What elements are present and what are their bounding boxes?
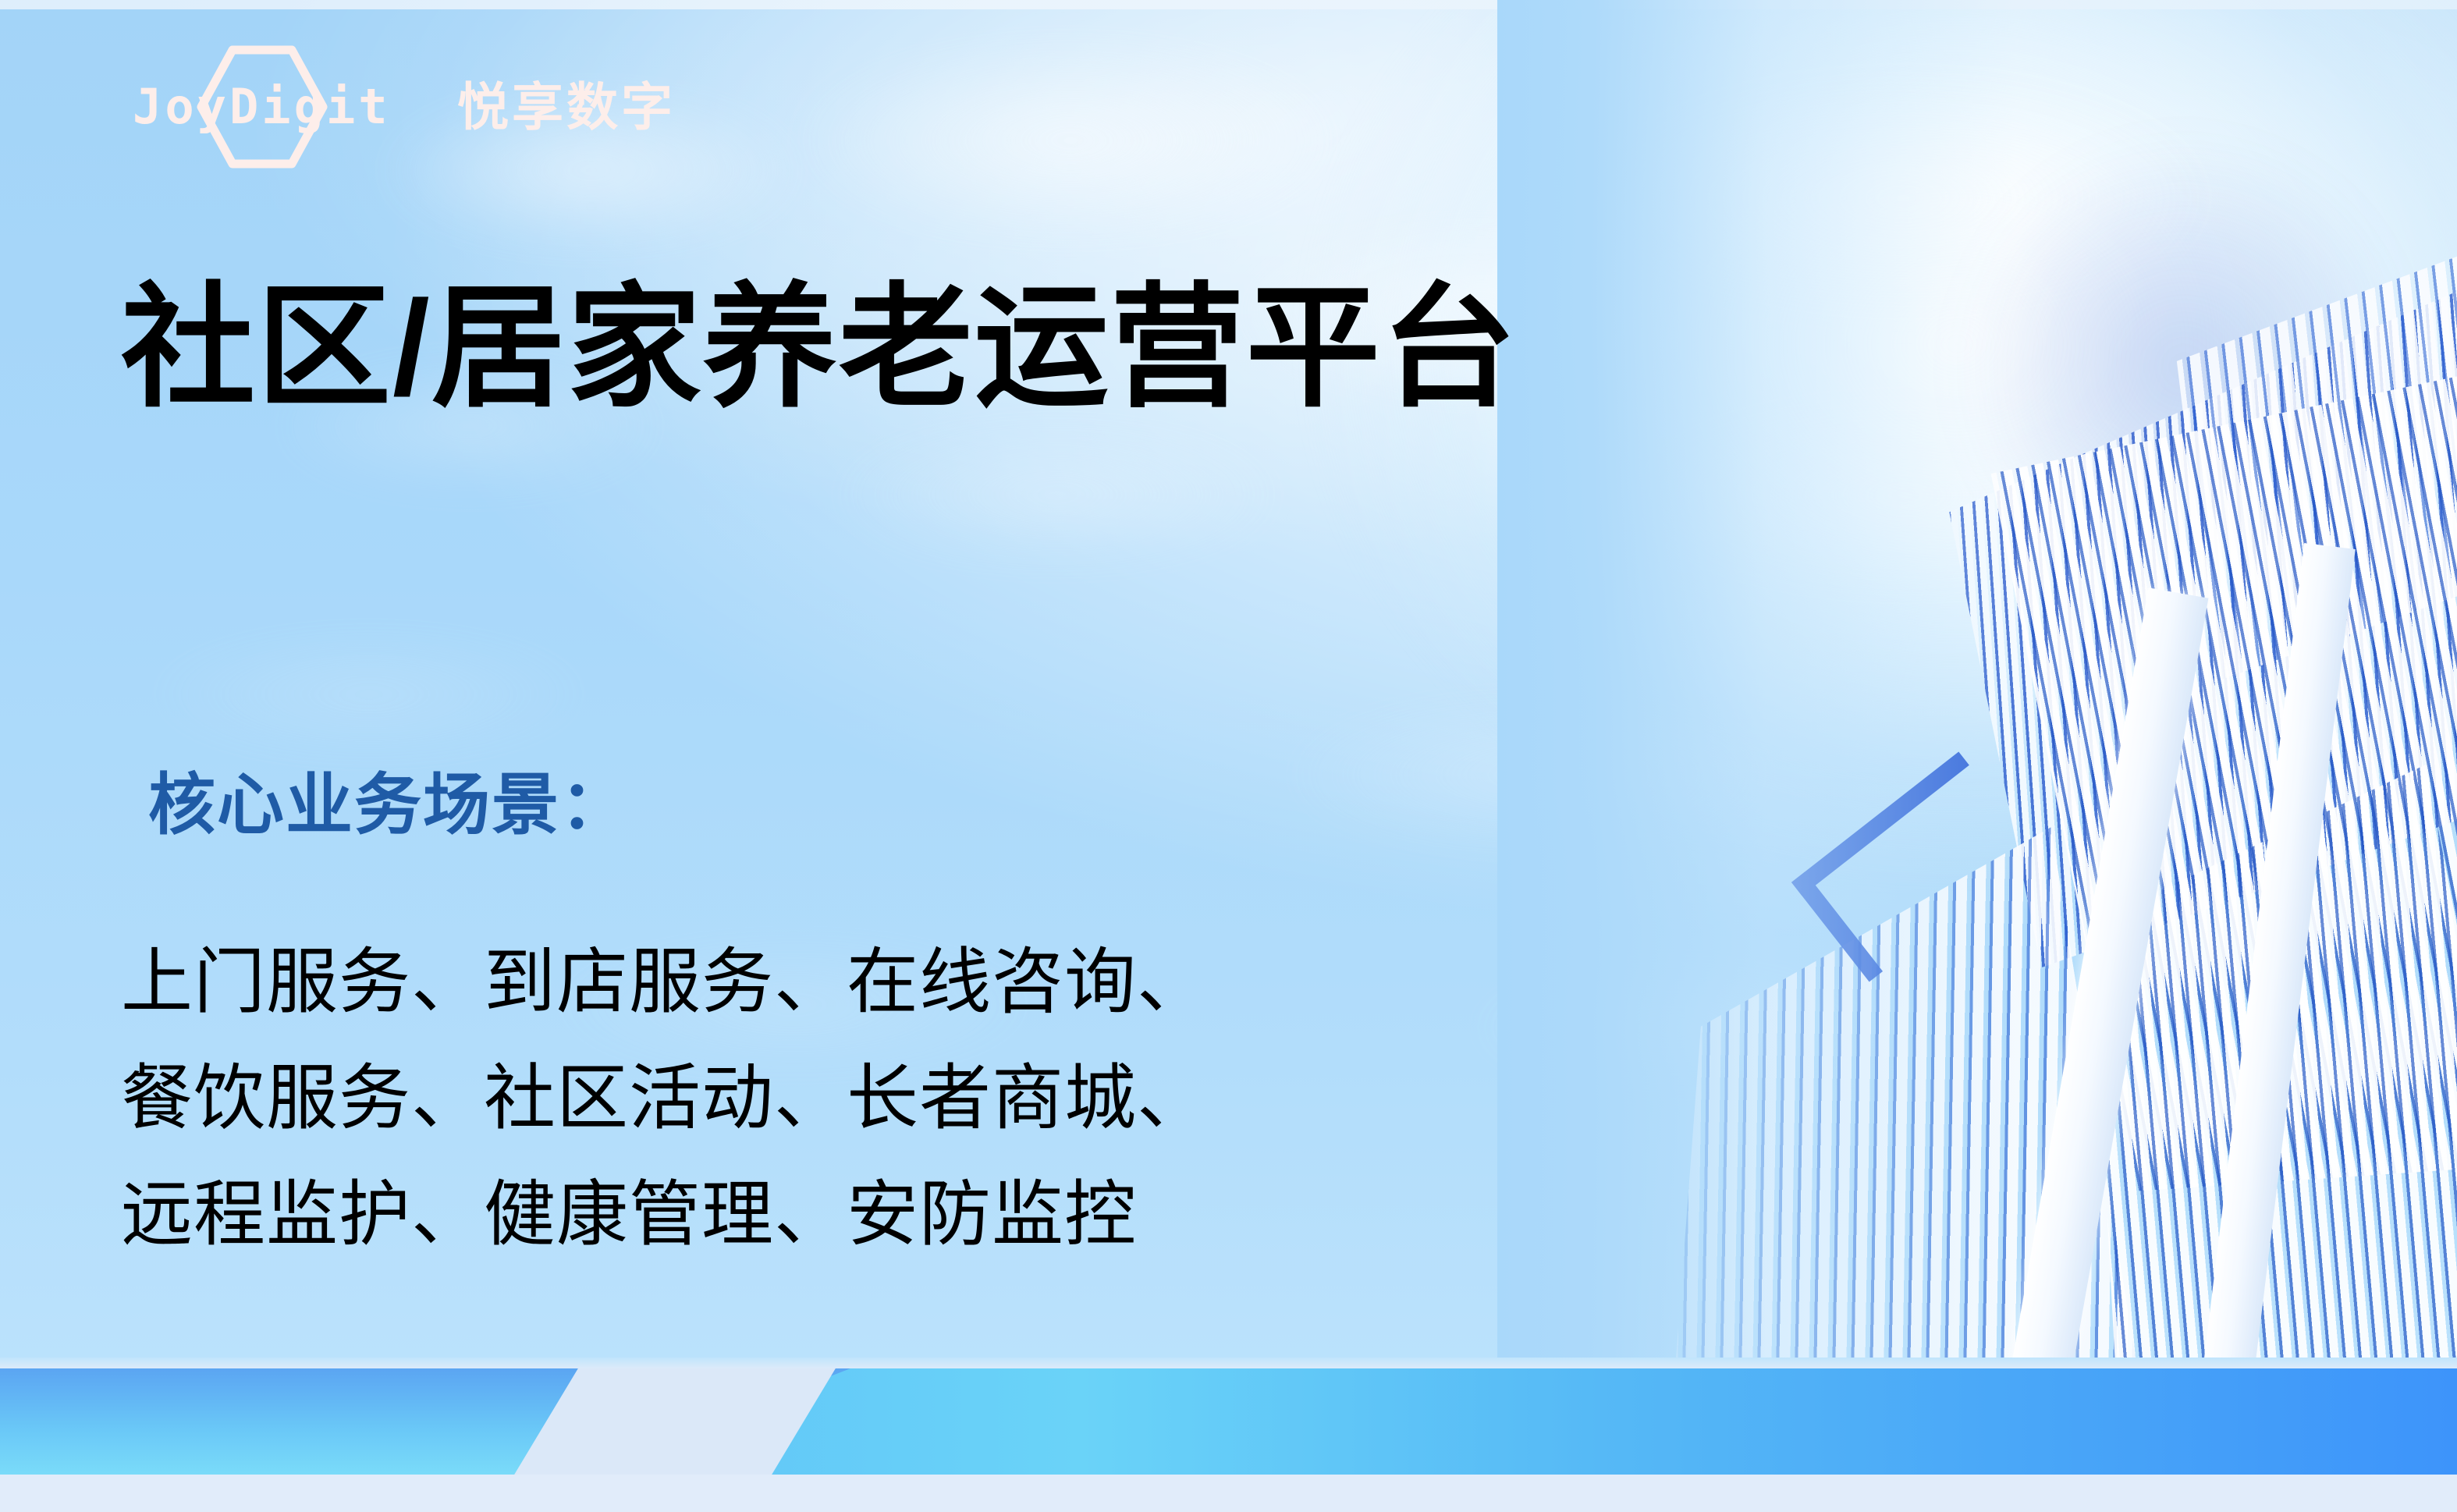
scenario-line: 上门服务、到店服务、在线咨询、 xyxy=(121,925,1209,1041)
brand-logo: JoyDigit 悦享数字 xyxy=(133,64,676,150)
scenario-line: 餐饮服务、社区活动、长者商城、 xyxy=(121,1041,1209,1157)
sky-glow xyxy=(1131,0,2457,1028)
bottom-decor-bar xyxy=(0,1358,2457,1512)
bar-bottom-plate xyxy=(0,1475,2457,1512)
slide-canvas: JoyDigit 悦享数字 社区/居家养老运营平台 核心业务场景： 上门服务、到… xyxy=(0,0,2457,1512)
logo-wordmark: JoyDigit xyxy=(133,83,391,131)
scenario-list: 上门服务、到店服务、在线咨询、 餐饮服务、社区活动、长者商城、 远程监护、健康管… xyxy=(121,925,1209,1273)
page-title: 社区/居家养老运营平台 xyxy=(121,272,1518,426)
logo-mark: JoyDigit xyxy=(133,64,499,150)
top-edge-highlight xyxy=(0,0,2457,9)
section-subtitle: 核心业务场景： xyxy=(148,768,629,843)
scenario-line: 远程监护、健康管理、安防监控 xyxy=(121,1157,1209,1273)
